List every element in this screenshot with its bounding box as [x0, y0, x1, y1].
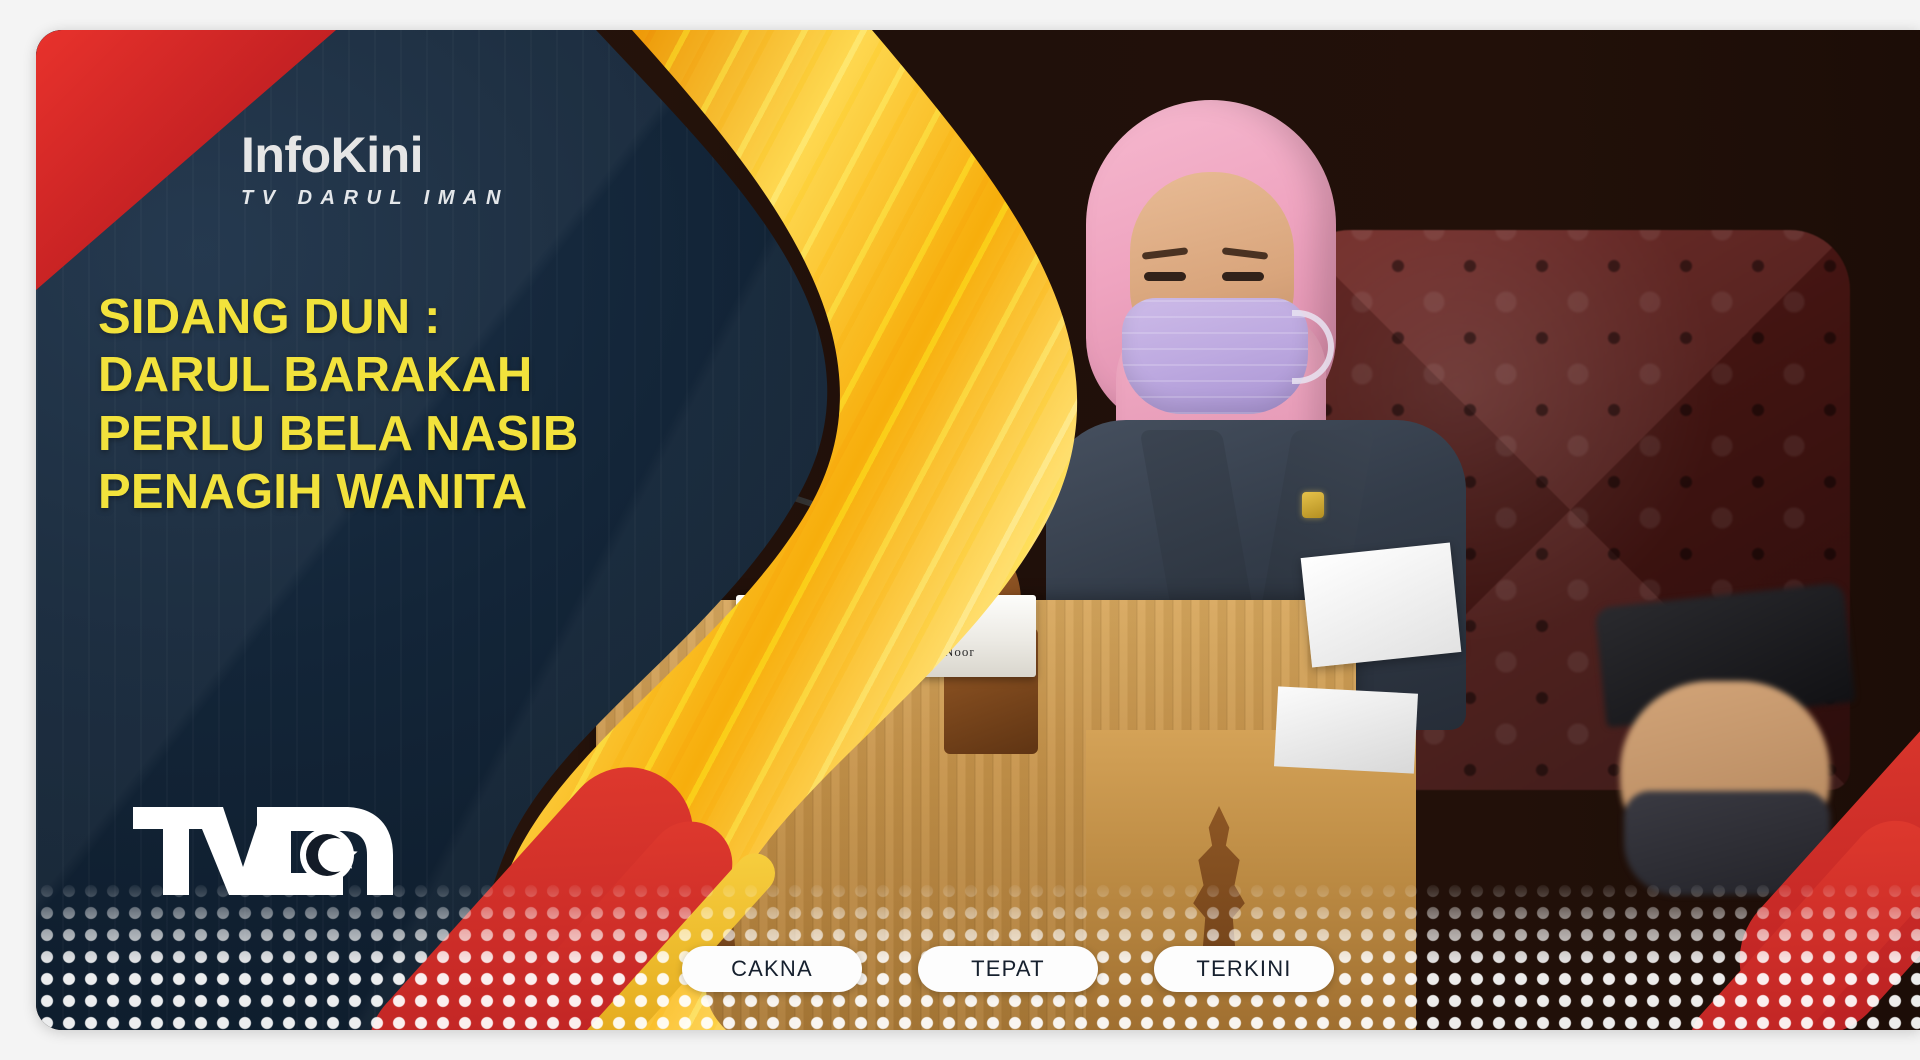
- face-mask: [1122, 298, 1308, 414]
- open-book: [1274, 686, 1418, 773]
- infokini-subtitle: TV DARUL IMAN: [241, 187, 661, 210]
- documents-stack: [1301, 542, 1462, 667]
- headline-line-1: SIDANG DUN :: [98, 288, 718, 346]
- infokini-logo: InfoKini TV DARUL IMAN: [241, 130, 661, 210]
- pill-cakna[interactable]: CAKNA: [682, 946, 862, 992]
- pill-tepat[interactable]: TEPAT: [918, 946, 1098, 992]
- tvdi-logo: [131, 795, 401, 905]
- tagline-pills: CAKNA TEPAT TERKINI: [36, 946, 1920, 992]
- face-mask-pleats: [1122, 298, 1308, 414]
- eye-left: [1144, 272, 1186, 281]
- eye-right: [1222, 272, 1264, 281]
- tvdi-logo-svg: [131, 795, 401, 905]
- news-thumbnail-card: ...AKIL WANITA نائب ريئيس Y.B. Zuraida B…: [36, 30, 1920, 1030]
- pill-terkini[interactable]: TERKINI: [1154, 946, 1334, 992]
- infokini-title: InfoKini: [241, 130, 661, 180]
- headline-line-4: PENAGIH WANITA: [98, 463, 718, 521]
- lapel-pin: [1302, 492, 1324, 518]
- screenshot-stage: ...AKIL WANITA نائب ريئيس Y.B. Zuraida B…: [0, 0, 1920, 1060]
- headline-line-3: PERLU BELA NASIB: [98, 405, 718, 463]
- headline: SIDANG DUN : DARUL BARAKAH PERLU BELA NA…: [98, 288, 718, 521]
- headline-line-2: DARUL BARAKAH: [98, 346, 718, 404]
- crescent-star-icon: [300, 828, 358, 882]
